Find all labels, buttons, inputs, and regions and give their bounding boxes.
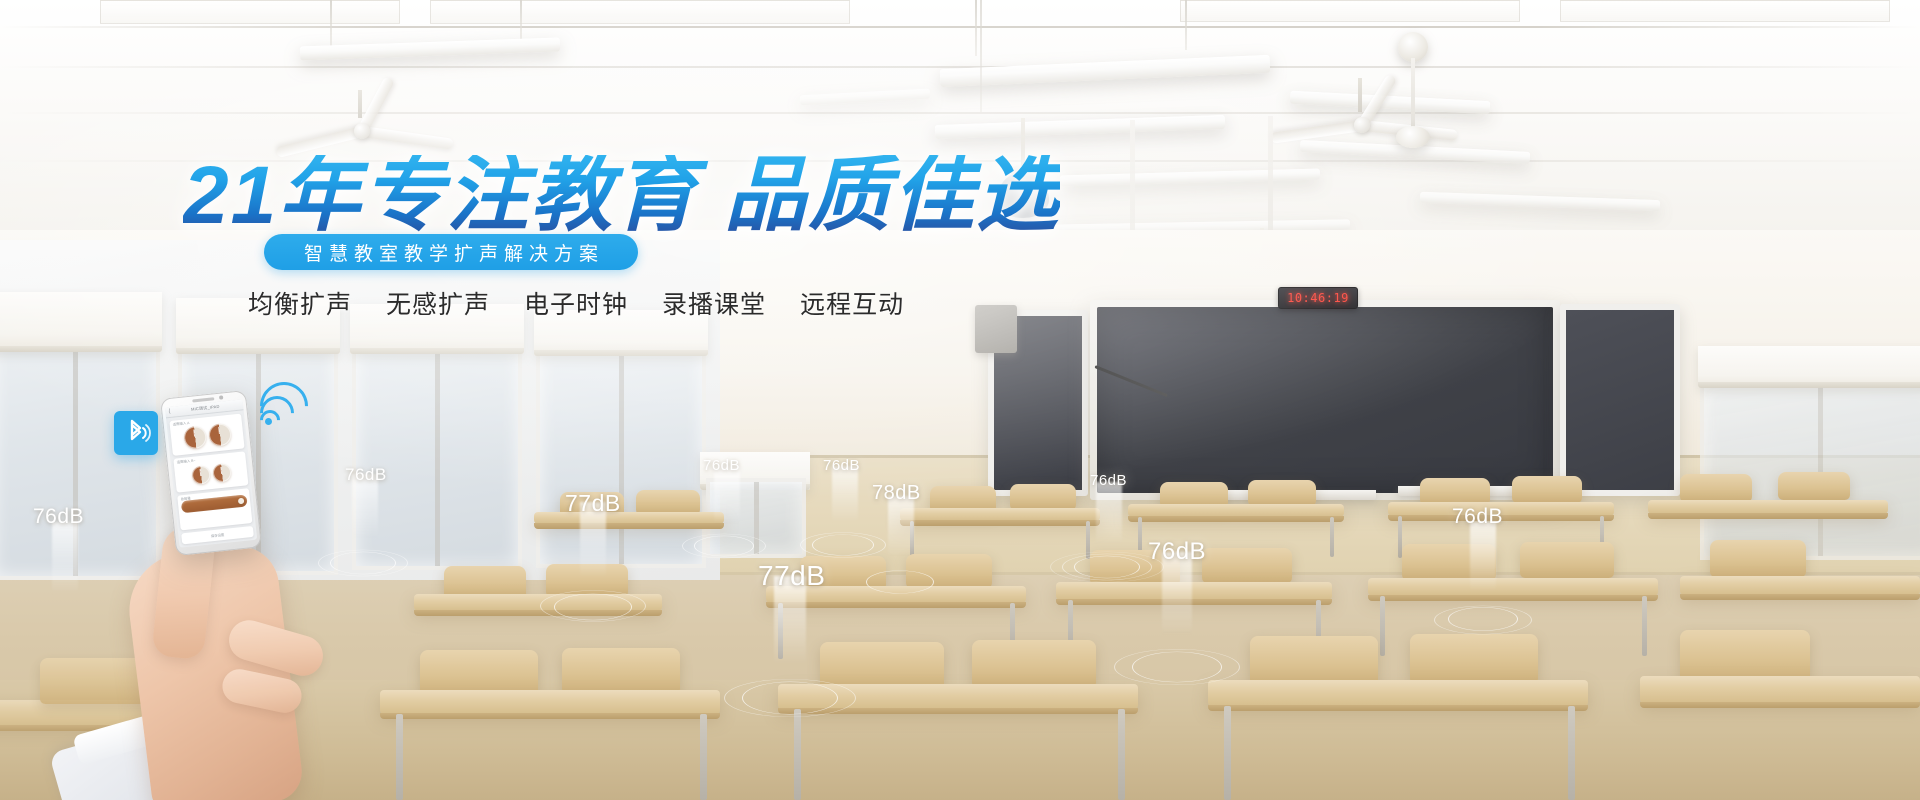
chair xyxy=(1710,540,1806,577)
sound-beam xyxy=(888,496,914,556)
volume-knob[interactable] xyxy=(183,426,207,450)
headline-part-2: 品质佳选 xyxy=(724,150,1060,241)
phone-card-mic-a[interactable]: 话筒输入 A xyxy=(169,414,244,456)
sound-ripple xyxy=(1434,606,1532,635)
db-label: 76dB xyxy=(1090,472,1127,489)
chair xyxy=(1410,634,1538,684)
desk xyxy=(1648,500,1888,514)
sound-ripple xyxy=(724,679,856,717)
phone-mockup[interactable]: ⟨ MIC调试_IPAD 话筒输入 A 话筒输入 B~ xyxy=(160,390,262,556)
desk xyxy=(1680,576,1920,595)
projector-head xyxy=(1396,126,1430,148)
sound-beam xyxy=(1096,482,1122,544)
chair xyxy=(1420,478,1490,505)
lamp-stem xyxy=(520,0,522,40)
ceiling-panel xyxy=(430,0,850,24)
sound-beam xyxy=(714,466,740,524)
db-label: 76dB xyxy=(1148,538,1206,566)
sound-ripple xyxy=(682,534,766,558)
db-label: 76dB xyxy=(1452,505,1503,529)
chair xyxy=(1010,484,1076,510)
sound-ripple xyxy=(1114,649,1240,685)
ceiling-panel xyxy=(1560,0,1890,22)
sound-ripple xyxy=(800,532,886,557)
sound-beam xyxy=(832,466,858,522)
desk xyxy=(1056,582,1332,600)
window-blind xyxy=(0,292,162,352)
desk xyxy=(1128,504,1344,517)
chair xyxy=(1680,474,1752,502)
window xyxy=(536,346,706,568)
sound-ripple xyxy=(866,570,934,593)
desk xyxy=(534,512,724,524)
wifi-signal-icon xyxy=(262,382,314,428)
desk xyxy=(1368,578,1658,596)
desk xyxy=(1640,676,1920,703)
window xyxy=(0,330,160,580)
ceiling-panel xyxy=(1180,0,1520,22)
headline-part-1: 21年专注教育 xyxy=(183,150,698,241)
volume-knob[interactable] xyxy=(191,465,211,485)
feature-item-seamless-amplification[interactable]: 无感扩声 xyxy=(386,285,490,321)
phone-screen[interactable]: ⟨ MIC调试_IPAD 话筒输入 A 话筒输入 B~ xyxy=(165,399,257,547)
save-settings-label: 保存设置 xyxy=(211,532,225,538)
db-label: 76dB xyxy=(823,457,860,474)
led-clock: 10:46:19 xyxy=(1278,287,1358,309)
phone-camera xyxy=(219,395,223,399)
ceiling-seam xyxy=(0,26,1920,28)
db-label: 76dB xyxy=(345,465,387,485)
phone-card-master-volume[interactable]: 总音量 xyxy=(177,488,252,530)
feature-item-balanced-amplification[interactable]: 均衡扩声 xyxy=(248,285,352,321)
wall-control-panel xyxy=(975,305,1017,353)
db-label: 77dB xyxy=(565,490,621,517)
lamp-stem xyxy=(330,0,332,46)
sound-beam xyxy=(52,522,78,594)
window xyxy=(1700,380,1920,560)
chair xyxy=(1250,636,1378,686)
chair xyxy=(1202,548,1292,583)
chair xyxy=(1520,542,1614,578)
desk xyxy=(900,508,1100,521)
db-label: 76dB xyxy=(703,457,740,474)
blackboard-side-right xyxy=(1560,304,1680,496)
chair xyxy=(820,642,944,690)
chair xyxy=(1512,476,1582,503)
db-label: 76dB xyxy=(33,505,84,529)
chair xyxy=(972,640,1096,688)
volume-knob[interactable] xyxy=(212,463,232,483)
volume-knob[interactable] xyxy=(208,423,232,447)
chair xyxy=(40,658,160,704)
chair xyxy=(1778,472,1850,500)
lamp-stem xyxy=(975,0,977,56)
desk xyxy=(1208,680,1588,706)
feature-item-remote-interaction[interactable]: 远程互动 xyxy=(800,285,904,321)
banner-stage: 10:46:19 xyxy=(0,0,1920,800)
ceiling-panel xyxy=(100,0,400,24)
sound-beam xyxy=(1470,522,1496,592)
chair xyxy=(1248,480,1316,506)
feature-item-recording-classroom[interactable]: 录播课堂 xyxy=(662,285,766,321)
knob-group[interactable] xyxy=(177,457,245,490)
clock-time: 10:46:19 xyxy=(1287,291,1349,305)
bluetooth-icon xyxy=(114,411,158,455)
phone-card-mic-b[interactable]: 话筒输入 B~ xyxy=(173,451,248,493)
db-label: 78dB xyxy=(872,482,921,505)
blackboard xyxy=(1090,300,1560,500)
lamp-stem xyxy=(980,0,982,112)
sound-ripple xyxy=(318,550,408,577)
desk xyxy=(380,690,720,714)
sound-ripple xyxy=(540,590,646,621)
page-title: 21年专注教育品质佳选 xyxy=(183,155,1060,237)
knob-group[interactable] xyxy=(173,420,241,453)
lamp-stem xyxy=(1185,0,1187,50)
db-label: 77dB xyxy=(758,560,825,592)
phone-app-body: 话筒输入 A 话筒输入 B~ 总音量 xyxy=(166,410,256,534)
chair xyxy=(562,648,680,694)
subtitle-pill: 智慧教室教学扩声解决方案 xyxy=(264,234,638,270)
feature-list: 均衡扩声 无感扩声 电子时钟 录播课堂 远程互动 xyxy=(248,285,904,321)
ceiling-seam xyxy=(0,112,1920,114)
sound-ripple xyxy=(1050,552,1164,583)
subtitle-text: 智慧教室教学扩声解决方案 xyxy=(298,239,604,266)
window-blind xyxy=(1698,346,1920,388)
feature-item-electronic-clock[interactable]: 电子时钟 xyxy=(524,285,628,321)
chair xyxy=(1680,630,1810,682)
